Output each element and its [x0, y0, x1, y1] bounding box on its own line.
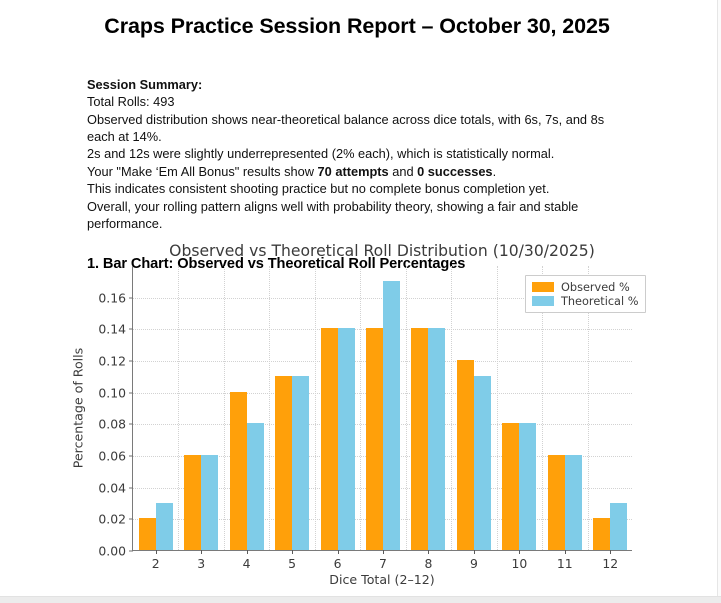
summary-total-rolls: Total Rolls: 493: [87, 93, 630, 110]
y-axis-tick-mark: [129, 487, 133, 488]
x-axis-tick-label: 6: [334, 556, 342, 571]
x-axis-tick-label: 4: [243, 556, 251, 571]
y-axis-tick-label: 0.06: [98, 449, 126, 464]
report-document: Craps Practice Session Report – October …: [0, 0, 714, 272]
y-axis-tick-mark: [129, 361, 133, 362]
x-axis-tick-mark: [383, 550, 384, 554]
x-axis-tick-label: 7: [379, 556, 387, 571]
y-axis-tick-mark: [129, 297, 133, 298]
x-axis-tick-mark: [292, 550, 293, 554]
legend-item-theoretical: Theoretical %: [532, 294, 638, 308]
x-axis-tick-mark: [428, 550, 429, 554]
x-axis-tick-mark: [156, 550, 157, 554]
page-bottom-edge: [0, 596, 721, 603]
y-axis-tick-mark: [129, 329, 133, 330]
bonus-middle: and: [389, 164, 417, 179]
bar-chart-figure: Observed vs Theoretical Roll Distributio…: [0, 236, 714, 596]
x-axis-tick-label: 8: [425, 556, 433, 571]
y-axis-tick-mark: [129, 392, 133, 393]
bonus-successes: 0 successes: [417, 164, 492, 179]
legend-swatch-icon: [532, 296, 554, 306]
x-axis-tick-mark: [519, 550, 520, 554]
x-axis-tick-label: 12: [602, 556, 618, 571]
x-axis-tick-label: 11: [557, 556, 573, 571]
legend-swatch-icon: [532, 282, 554, 292]
y-axis-tick-label: 0.00: [98, 544, 126, 559]
y-axis-tick-label: 0.14: [98, 322, 126, 337]
x-axis-tick-mark: [247, 550, 248, 554]
y-axis-tick-label: 0.04: [98, 480, 126, 495]
legend-label: Theoretical %: [561, 295, 638, 308]
y-axis-tick-label: 0.10: [98, 385, 126, 400]
chart-legend: Observed %Theoretical %: [525, 275, 646, 313]
bonus-attempts: 70 attempts: [318, 164, 389, 179]
x-axis-tick-mark: [201, 550, 202, 554]
y-axis-tick-mark: [129, 551, 133, 552]
y-axis-tick-mark: [129, 519, 133, 520]
x-axis-tick-label: 2: [152, 556, 160, 571]
y-axis-tick-label: 0.16: [98, 290, 126, 305]
summary-distribution: Observed distribution shows near-theoret…: [87, 111, 630, 146]
x-axis-tick-mark: [610, 550, 611, 554]
page-title: Craps Practice Session Report – October …: [0, 14, 714, 40]
x-axis-tick-mark: [474, 550, 475, 554]
y-axis-tick-mark: [129, 456, 133, 457]
summary-heading: Session Summary:: [87, 76, 630, 93]
x-axis-tick-mark: [338, 550, 339, 554]
y-axis-tick-label: 0.02: [98, 512, 126, 527]
y-axis-label: Percentage of Rolls: [71, 348, 86, 468]
x-axis-label: Dice Total (2–12): [132, 572, 632, 587]
summary-overall: Overall, your rolling pattern aligns wel…: [87, 198, 630, 233]
y-axis-tick-mark: [129, 424, 133, 425]
x-axis-tick-label: 5: [288, 556, 296, 571]
session-summary: Session Summary: Total Rolls: 493 Observ…: [0, 76, 714, 233]
x-axis-tick-label: 10: [511, 556, 527, 571]
bonus-suffix: .: [493, 164, 497, 179]
bonus-prefix: Your "Make ‘Em All Bonus" results show: [87, 164, 318, 179]
legend-label: Observed %: [561, 281, 630, 294]
summary-underrepresented: 2s and 12s were slightly underrepresente…: [87, 145, 630, 162]
summary-bonus-results: Your "Make ‘Em All Bonus" results show 7…: [87, 163, 630, 180]
page-right-edge: [717, 0, 721, 603]
x-axis-tick-label: 3: [197, 556, 205, 571]
y-axis-tick-label: 0.08: [98, 417, 126, 432]
x-axis-tick-label: 9: [470, 556, 478, 571]
summary-indicates: This indicates consistent shooting pract…: [87, 180, 630, 197]
y-axis-tick-label: 0.12: [98, 354, 126, 369]
x-axis-tick-mark: [565, 550, 566, 554]
chart-title: Observed vs Theoretical Roll Distributio…: [132, 242, 632, 260]
legend-item-observed: Observed %: [532, 280, 638, 294]
